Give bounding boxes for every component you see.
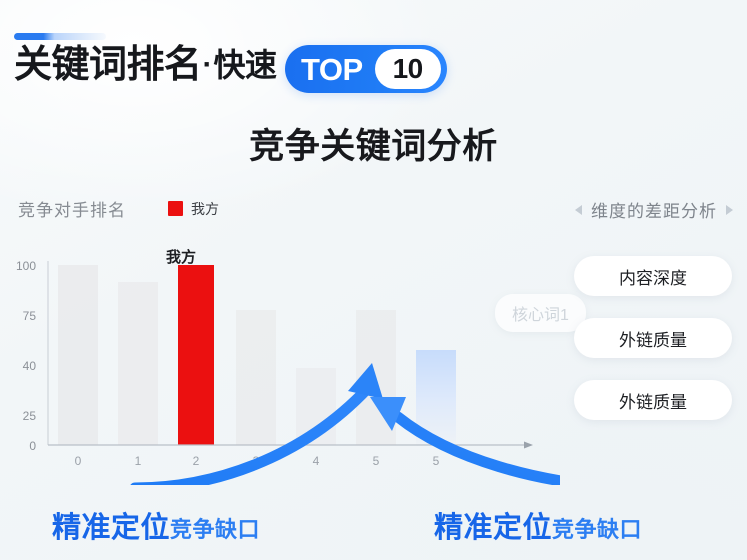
dimension-pill[interactable]: 外链质量 <box>574 318 732 358</box>
y-tick-label: 75 <box>23 309 37 323</box>
legend-series-item: 我方 <box>168 199 219 219</box>
competitor-bar-chart: 100 75 40 25 0 0 <box>0 245 560 485</box>
x-axis-arrow-icon <box>524 442 533 449</box>
caption-weak-text: 竞争缺口 <box>170 512 260 544</box>
y-tick-label: 40 <box>23 359 37 373</box>
headline-sub-text: 快速 <box>214 49 277 81</box>
x-tick-label: 5 <box>433 454 440 468</box>
caption-left: 精准定位 竞争缺口 <box>52 504 260 546</box>
bar-0 <box>58 265 98 445</box>
accent-progress-bar <box>14 33 106 40</box>
top-rank-badge: TOP 10 <box>285 45 447 93</box>
legend-series-label: 我方 <box>191 199 219 219</box>
y-tick-label: 100 <box>16 259 36 273</box>
caption-weak-text: 竞争缺口 <box>552 512 642 544</box>
poster-canvas: 关键词排名 · 快速 TOP 10 竞争关键词分析 竞争对手排名 我方 维度的差… <box>0 0 747 560</box>
page-title: 竞争关键词分析 <box>0 118 747 169</box>
legend-title: 竞争对手排名 <box>18 196 126 221</box>
dimension-pill-list: 内容深度 外链质量 外链质量 <box>574 256 732 420</box>
dimension-analysis-label: 维度的差距分析 <box>591 197 717 222</box>
arrow-up-left-icon <box>370 397 560 485</box>
y-tick-label: 25 <box>23 409 37 423</box>
bar-1 <box>118 282 158 445</box>
highlight-bar-label: 我方 <box>166 246 196 267</box>
top-badge-label: TOP <box>301 54 375 85</box>
chart-svg: 100 75 40 25 0 0 <box>0 245 560 485</box>
x-tick-label: 4 <box>313 454 320 468</box>
chart-legend: 竞争对手排名 我方 <box>18 196 219 221</box>
y-tick-label: 0 <box>29 439 36 453</box>
caption-strong-text: 精准定位 <box>434 504 552 546</box>
caret-left-icon <box>575 205 582 215</box>
bar-highlight-our-side[interactable] <box>178 265 214 445</box>
x-tick-label: 1 <box>135 454 142 468</box>
bar-3 <box>236 310 276 445</box>
core-keyword-chip[interactable]: 核心词1 <box>495 294 586 332</box>
dimension-analysis-header: 维度的差距分析 <box>575 197 733 222</box>
top-badge-count: 10 <box>375 49 441 89</box>
dimension-pill[interactable]: 外链质量 <box>574 380 732 420</box>
caret-right-icon <box>726 205 733 215</box>
caption-right: 精准定位 竞争缺口 <box>434 504 642 546</box>
y-axis: 100 75 40 25 0 <box>16 259 36 453</box>
x-tick-label: 5 <box>373 454 380 468</box>
dimension-pill[interactable]: 内容深度 <box>574 256 732 296</box>
headline: 关键词排名 · 快速 <box>14 46 277 84</box>
x-tick-label: 0 <box>75 454 82 468</box>
x-tick-label: 2 <box>193 454 200 468</box>
legend-color-swatch-icon <box>168 201 183 216</box>
headline-main-text: 关键词排名 <box>14 46 202 84</box>
headline-separator-dot: · <box>203 50 213 80</box>
caption-strong-text: 精准定位 <box>52 504 170 546</box>
